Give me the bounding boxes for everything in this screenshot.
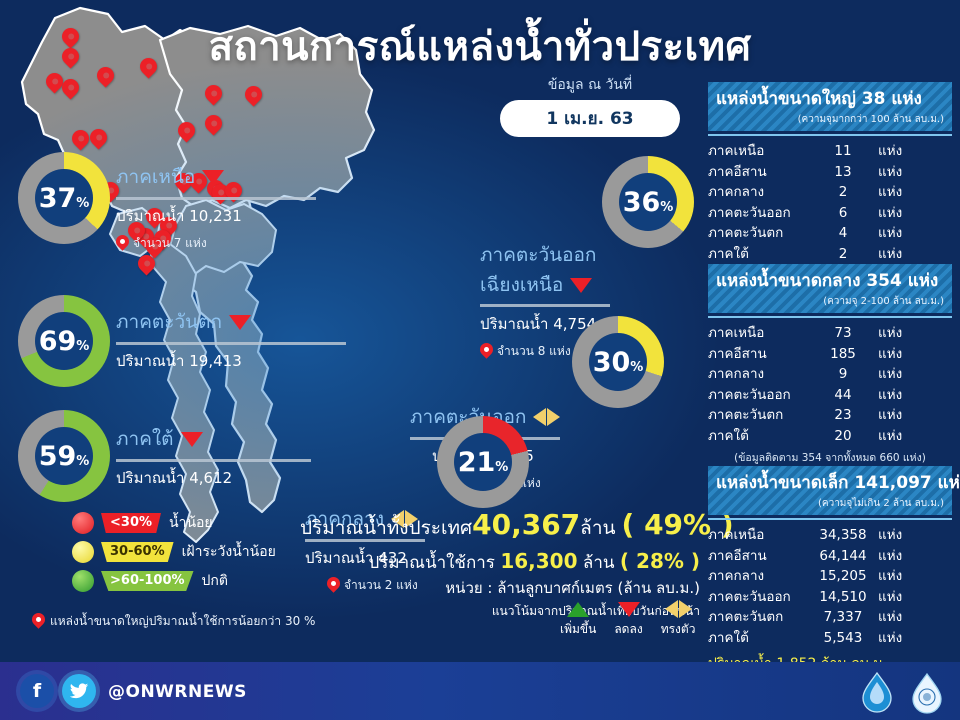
donut-value-central: 21% <box>458 449 509 476</box>
panel-row-unit: แห่ง <box>878 426 902 447</box>
panel-row-region: ภาคกลาง <box>708 566 808 587</box>
left-right-arrow-icon <box>665 600 692 618</box>
donut-value-north: 37% <box>39 185 90 212</box>
map-pin-icon <box>32 613 45 631</box>
facebook-icon[interactable]: f <box>20 674 54 708</box>
legend-range-green: >60-100% <box>101 571 194 591</box>
panel-row: ภาคกลาง15,205แห่ง <box>708 566 952 587</box>
down-triangle-icon <box>570 278 592 293</box>
panel-row-value: 73 <box>808 323 878 344</box>
panel-subtitle: (ความจุ 2-100 ล้าน ลบ.ม.) <box>716 294 944 309</box>
map-pin-icon <box>97 67 114 91</box>
panel-header: แหล่งน้ำขนาดใหญ่ 38 แห่ง (ความจุมากกว่า … <box>708 82 952 131</box>
panel-row-value: 7,337 <box>808 607 878 628</box>
left-right-arrow-icon <box>533 408 560 426</box>
down-triangle-icon <box>202 170 224 185</box>
panel-row-region: ภาคอีสาน <box>708 162 808 183</box>
panel-row-unit: แห่ง <box>878 385 902 406</box>
legend-item: 30-60% เฝ้าระวังน้ำน้อย <box>72 541 276 563</box>
panel-row-region: ภาคกลาง <box>708 182 808 203</box>
panel-row: ภาคใต้20แห่ง <box>708 426 952 447</box>
divider <box>116 342 346 345</box>
panel-row: ภาคตะวันตก7,337แห่ง <box>708 607 952 628</box>
panel-row-region: ภาคเหนือ <box>708 141 808 162</box>
map-pin-icon <box>245 86 262 110</box>
legend-item: >60-100% ปกติ <box>72 570 276 592</box>
map-pin-icon <box>116 235 129 253</box>
panel-title: แหล่งน้ำขนาดเล็ก 141,097 แห่ง <box>716 469 944 496</box>
panel-header: แหล่งน้ำขนาดกลาง 354 แห่ง (ความจุ 2-100 … <box>708 264 952 313</box>
donut-value-west: 69% <box>39 328 90 355</box>
panel-row-region: ภาคตะวันตก <box>708 607 808 628</box>
panel-row-unit: แห่ง <box>878 323 902 344</box>
summary-unit-note: หน่วย : ล้านลูกบาศก์เมตร (ล้าน ลบ.ม.) <box>300 576 700 600</box>
panel-row: ภาคเหนือ34,358แห่ง <box>708 525 952 546</box>
trend-up: เพิ่มขึ้น <box>560 600 596 639</box>
summary-total-line: ปริมาณน้ำทั้งประเทศ40,367ล้าน ( 49% ) <box>300 505 700 546</box>
panel-row-value: 185 <box>808 344 878 365</box>
panel-row: ภาคตะวันออก44แห่ง <box>708 385 952 406</box>
panel-row-value: 20 <box>808 426 878 447</box>
panel-row-region: ภาคใต้ <box>708 244 808 265</box>
panel-row: ภาคตะวันตก4แห่ง <box>708 223 952 244</box>
panel-rows: ภาคเหนือ11แห่งภาคอีสาน13แห่งภาคกลาง2แห่ง… <box>708 141 952 264</box>
trend-legend: เพิ่มขึ้น ลดลง ทรงตัว <box>560 600 695 639</box>
panel-row-value: 2 <box>808 244 878 265</box>
map-pin-icon <box>140 58 157 82</box>
panel-row-unit: แห่ง <box>878 566 902 587</box>
panel-row-region: ภาคเหนือ <box>708 323 808 344</box>
legend-label-green: ปกติ <box>202 570 228 592</box>
divider <box>708 316 952 318</box>
panel-row: ภาคกลาง2แห่ง <box>708 182 952 203</box>
panel-row-value: 6 <box>808 203 878 224</box>
panel-row: ภาคใต้5,543แห่ง <box>708 628 952 649</box>
panel-medium-reservoirs[interactable]: แหล่งน้ำขนาดกลาง 354 แห่ง (ความจุ 2-100 … <box>708 264 952 493</box>
panel-note: (ข้อมูลติดตาม 354 จากทั้งหมด 660 แห่ง) <box>708 449 952 466</box>
panel-row-unit: แห่ง <box>878 223 902 244</box>
up-triangle-icon <box>567 602 589 617</box>
twitter-icon[interactable] <box>62 674 96 708</box>
panel-row-region: ภาคใต้ <box>708 628 808 649</box>
royal-emblem-logo <box>905 670 949 714</box>
legend-label-red: น้ำน้อย <box>169 512 213 534</box>
panel-row-value: 9 <box>808 364 878 385</box>
region-count-north: จำนวน 7 แห่ง <box>116 234 316 253</box>
panel-row-value: 13 <box>808 162 878 183</box>
donut-value-south: 59% <box>39 443 90 470</box>
panel-row-region: ภาคอีสาน <box>708 546 808 567</box>
legend-note: แหล่งน้ำขนาดใหญ่ปริมาณน้ำใช้การน้อยกว่า … <box>32 612 315 631</box>
region-card-north[interactable]: 37% ภาคเหนือ ปริมาณน้ำ 10,231 จำนวน 7 แห… <box>18 152 110 244</box>
panel-row-value: 5,543 <box>808 628 878 649</box>
panel-row-region: ภาคอีสาน <box>708 344 808 365</box>
panel-row: ภาคอีสาน185แห่ง <box>708 344 952 365</box>
donut-south: 59% <box>18 410 110 502</box>
map-pin-icon <box>90 129 107 153</box>
region-name-west: ภาคตะวันตก <box>116 307 346 337</box>
panel-row-region: ภาคตะวันตก <box>708 405 808 426</box>
panel-row-value: 23 <box>808 405 878 426</box>
panel-row-region: ภาคตะวันออก <box>708 587 808 608</box>
map-pin-icon <box>62 79 79 103</box>
region-volume-south: ปริมาณน้ำ 4,612 <box>116 466 311 490</box>
panel-row: ภาคใต้2แห่ง <box>708 244 952 265</box>
panel-row-value: 14,510 <box>808 587 878 608</box>
region-name-south: ภาคใต้ <box>116 424 311 454</box>
panel-row-unit: แห่ง <box>878 162 902 183</box>
map-pin-icon <box>62 48 79 72</box>
panel-row-unit: แห่ง <box>878 141 902 162</box>
panel-row-value: 4 <box>808 223 878 244</box>
panel-row-region: ภาคกลาง <box>708 364 808 385</box>
infographic-canvas: สถานการณ์แหล่งน้ำทั่วประเทศ ข้อมูล ณ วัน… <box>0 0 960 720</box>
map-pin-icon <box>72 130 89 154</box>
down-triangle-icon <box>618 602 640 617</box>
panel-row: ภาคเหนือ11แห่ง <box>708 141 952 162</box>
donut-value-east: 30% <box>593 349 644 376</box>
panel-row-region: ภาคตะวันตก <box>708 223 808 244</box>
panel-row-unit: แห่ง <box>878 628 902 649</box>
donut-west: 69% <box>18 295 110 387</box>
panel-row-value: 2 <box>808 182 878 203</box>
panel-rows: ภาคเหนือ73แห่งภาคอีสาน185แห่งภาคกลาง9แห่… <box>708 323 952 446</box>
status-legend: <30% น้ำน้อย 30-60% เฝ้าระวังน้ำน้อย >60… <box>72 512 276 599</box>
trend-down: ลดลง <box>614 600 642 639</box>
map-pin-icon <box>178 122 195 146</box>
panel-row: ภาคอีสาน64,144แห่ง <box>708 546 952 567</box>
panel-row: ภาคเหนือ73แห่ง <box>708 323 952 344</box>
legend-range-red: <30% <box>101 513 161 533</box>
down-triangle-icon <box>229 315 251 330</box>
panel-row: ภาคอีสาน13แห่ง <box>708 162 952 183</box>
panel-row-region: ภาคตะวันออก <box>708 385 808 406</box>
down-triangle-icon <box>181 432 203 447</box>
legend-dot-red <box>72 512 94 534</box>
region-card-west[interactable]: 69% ภาคตะวันตก ปริมาณน้ำ 19,413 <box>18 295 110 387</box>
divider <box>708 134 952 136</box>
donut-value-northeast: 36% <box>623 189 674 216</box>
panel-rows: ภาคเหนือ34,358แห่งภาคอีสาน64,144แห่งภาคก… <box>708 525 952 648</box>
panel-row-region: ภาคใต้ <box>708 426 808 447</box>
donut-north: 37% <box>18 152 110 244</box>
donut-east: 30% <box>572 316 664 408</box>
panel-row-region: ภาคเหนือ <box>708 525 808 546</box>
map-pin-icon <box>205 115 222 139</box>
panel-row-unit: แห่ง <box>878 182 902 203</box>
region-card-south[interactable]: 59% ภาคใต้ ปริมาณน้ำ 4,612 <box>18 410 110 502</box>
trend-steady: ทรงตัว <box>661 600 696 639</box>
panel-header: แหล่งน้ำขนาดเล็ก 141,097 แห่ง (ความจุไม่… <box>708 466 952 515</box>
footer-bar: f @ONWRNEWS <box>0 662 960 720</box>
region-name-northeast-2: เฉียงเหนือ <box>480 270 670 300</box>
panel-row-unit: แห่ง <box>878 405 902 426</box>
summary-usable-line: ปริมาณน้ำใช้การ 16,300 ล้าน ( 28% ) <box>300 546 700 577</box>
panel-subtitle: (ความจุมากกว่า 100 ล้าน ลบ.ม.) <box>716 112 944 127</box>
panel-row-unit: แห่ง <box>878 203 902 224</box>
panel-row-unit: แห่ง <box>878 607 902 628</box>
panel-row: ภาคกลาง9แห่ง <box>708 364 952 385</box>
divider <box>116 459 311 462</box>
panel-large-reservoirs[interactable]: แหล่งน้ำขนาดใหญ่ 38 แห่ง (ความจุมากกว่า … <box>708 82 952 291</box>
panel-row-unit: แห่ง <box>878 344 902 365</box>
panel-row-value: 34,358 <box>808 525 878 546</box>
panel-row: ภาคตะวันตก23แห่ง <box>708 405 952 426</box>
region-volume-west: ปริมาณน้ำ 19,413 <box>116 349 346 373</box>
panel-title: แหล่งน้ำขนาดกลาง 354 แห่ง <box>716 267 944 294</box>
divider <box>708 518 952 520</box>
data-date-label: ข้อมูล ณ วันที่ <box>500 74 680 96</box>
panel-title: แหล่งน้ำขนาดใหญ่ 38 แห่ง <box>716 85 944 112</box>
panel-row-unit: แห่ง <box>878 364 902 385</box>
panel-row-unit: แห่ง <box>878 587 902 608</box>
social-handle: @ONWRNEWS <box>108 682 247 702</box>
donut-central: 21% <box>437 416 529 508</box>
panel-row-unit: แห่ง <box>878 525 902 546</box>
panel-small-reservoirs[interactable]: แหล่งน้ำขนาดเล็ก 141,097 แห่ง (ความจุไม่… <box>708 466 952 675</box>
region-name-north: ภาคเหนือ <box>116 162 316 192</box>
panel-row-value: 44 <box>808 385 878 406</box>
map-pin-icon <box>205 85 222 109</box>
data-date-value: 1 เม.ย. 63 <box>500 100 680 137</box>
legend-label-yellow: เฝ้าระวังน้ำน้อย <box>182 541 276 563</box>
region-volume-north: ปริมาณน้ำ 10,231 <box>116 204 316 228</box>
data-date-block: ข้อมูล ณ วันที่ 1 เม.ย. 63 <box>500 74 680 137</box>
panel-row: ภาคตะวันออก14,510แห่ง <box>708 587 952 608</box>
legend-range-yellow: 30-60% <box>101 542 174 562</box>
panel-row-value: 11 <box>808 141 878 162</box>
legend-dot-yellow <box>72 541 94 563</box>
divider <box>480 304 610 307</box>
panel-subtitle: (ความจุไม่เกิน 2 ล้าน ลบ.ม.) <box>716 496 944 511</box>
panel-row: ภาคตะวันออก6แห่ง <box>708 203 952 224</box>
legend-item: <30% น้ำน้อย <box>72 512 276 534</box>
legend-dot-green <box>72 570 94 592</box>
panel-row-value: 64,144 <box>808 546 878 567</box>
panel-row-region: ภาคตะวันออก <box>708 203 808 224</box>
panel-row-unit: แห่ง <box>878 546 902 567</box>
panel-row-value: 15,205 <box>808 566 878 587</box>
panel-row-unit: แห่ง <box>878 244 902 265</box>
onwr-logo <box>855 670 899 714</box>
donut-northeast: 36% <box>602 156 694 248</box>
map-pin-icon <box>46 73 63 97</box>
divider <box>116 197 316 200</box>
